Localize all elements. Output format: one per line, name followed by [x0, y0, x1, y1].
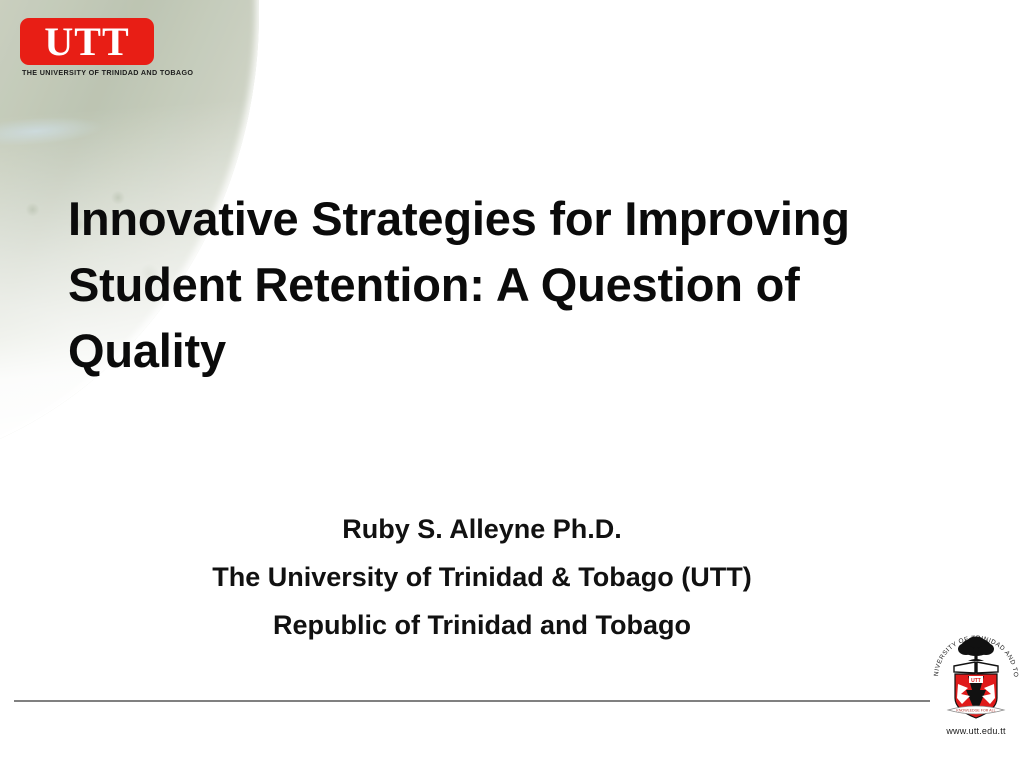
- utt-logo-badge: UTT: [20, 18, 154, 65]
- presenter-institution: The University of Trinidad & Tobago (UTT…: [70, 553, 894, 601]
- crest-url-text: www.utt.edu.tt: [928, 726, 1024, 736]
- slide-subtitle: Ruby S. Alleyne Ph.D. The University of …: [70, 505, 894, 649]
- utt-crest: THE UNIVERSITY OF TRINIDAD AND TOBAGO: [928, 614, 1024, 758]
- crest-book-icon: [954, 662, 998, 673]
- slide-title: Innovative Strategies for Improving Stud…: [68, 186, 918, 384]
- presenter-country: Republic of Trinidad and Tobago: [70, 601, 894, 649]
- crest-motto-text: KNOWLEDGE FOR ALL: [956, 709, 995, 713]
- presentation-slide: UTT THE UNIVERSITY OF TRINIDAD AND TOBAG…: [0, 0, 1024, 768]
- title-line-1: Innovative Strategies for Improving: [68, 186, 918, 252]
- title-line-2: Student Retention: A Question of: [68, 252, 918, 318]
- utt-logo-tagline: THE UNIVERSITY OF TRINIDAD AND TOBAGO: [22, 68, 164, 77]
- utt-crest-icon: THE UNIVERSITY OF TRINIDAD AND TOBAGO: [928, 614, 1024, 734]
- footer-divider: [14, 700, 930, 702]
- crest-motto-scroll: KNOWLEDGE FOR ALL: [948, 706, 1004, 714]
- presenter-name: Ruby S. Alleyne Ph.D.: [70, 505, 894, 553]
- utt-logo-wordmark: UTT: [44, 22, 129, 62]
- title-line-3: Quality: [68, 318, 918, 384]
- utt-logo: UTT THE UNIVERSITY OF TRINIDAD AND TOBAG…: [20, 18, 160, 77]
- crest-shield-wordmark: UTT: [971, 678, 981, 684]
